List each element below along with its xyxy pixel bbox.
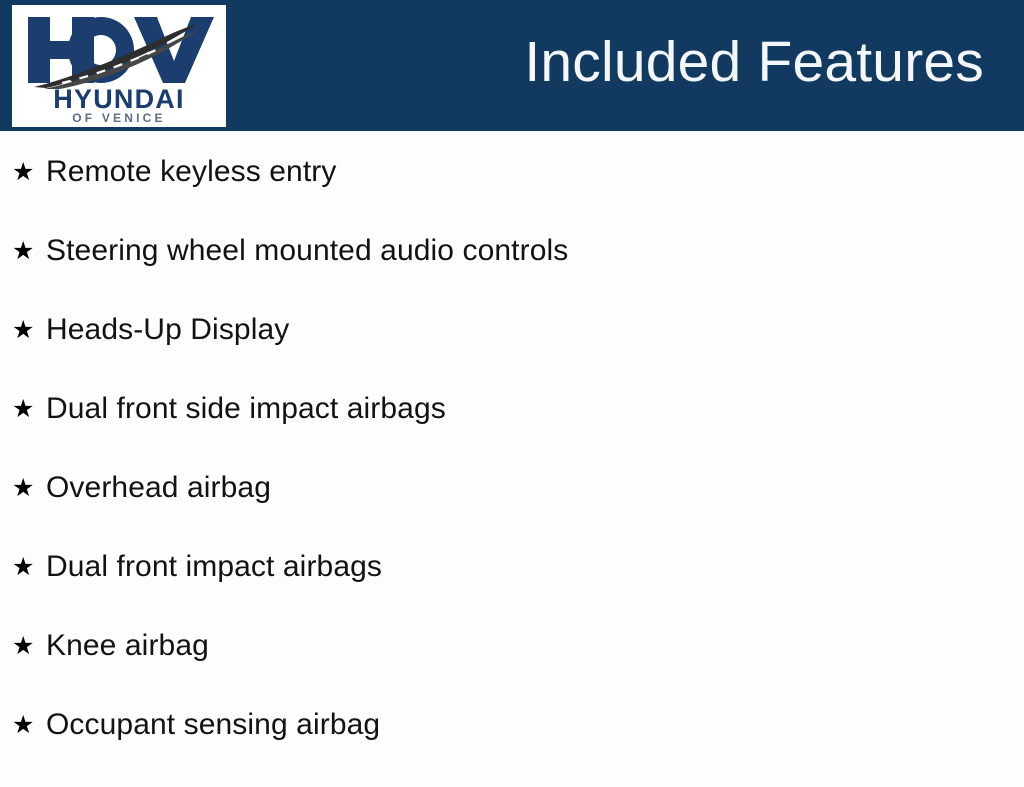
hov-wordmark-icon bbox=[22, 11, 218, 89]
list-item: ★ Occupant sensing airbag bbox=[0, 708, 1024, 787]
star-bullet-icon: ★ bbox=[12, 155, 46, 189]
star-bullet-icon: ★ bbox=[12, 471, 46, 505]
slide: HYUNDAI OF VENICE Included Features ★ Re… bbox=[0, 0, 1024, 768]
logo-brand-text: HYUNDAI bbox=[12, 85, 226, 113]
list-item: ★ Heads-Up Display bbox=[0, 313, 1024, 392]
list-item-label: Knee airbag bbox=[46, 629, 1024, 663]
star-bullet-icon: ★ bbox=[12, 392, 46, 426]
star-bullet-icon: ★ bbox=[12, 629, 46, 663]
logo-inner: HYUNDAI OF VENICE bbox=[12, 5, 226, 127]
logo-location-text: OF VENICE bbox=[12, 111, 226, 125]
list-item-label: Overhead airbag bbox=[46, 471, 1024, 505]
list-item: ★ Overhead airbag bbox=[0, 471, 1024, 550]
list-item: ★ Knee airbag bbox=[0, 629, 1024, 708]
list-item-label: Steering wheel mounted audio controls bbox=[46, 234, 1024, 268]
list-item: ★ Dual front side impact airbags bbox=[0, 392, 1024, 471]
star-bullet-icon: ★ bbox=[12, 234, 46, 268]
list-item-label: Dual front impact airbags bbox=[46, 550, 1024, 584]
list-item: ★ Dual front impact airbags bbox=[0, 550, 1024, 629]
list-item-label: Occupant sensing airbag bbox=[46, 708, 1024, 742]
list-item-label: Heads-Up Display bbox=[46, 313, 1024, 347]
star-bullet-icon: ★ bbox=[12, 550, 46, 584]
list-item: ★ Steering wheel mounted audio controls bbox=[0, 234, 1024, 313]
list-item: ★ Remote keyless entry bbox=[0, 155, 1024, 234]
star-bullet-icon: ★ bbox=[12, 313, 46, 347]
star-bullet-icon: ★ bbox=[12, 708, 46, 742]
page-title: Included Features bbox=[524, 27, 984, 97]
list-item-label: Remote keyless entry bbox=[46, 155, 1024, 189]
list-item-label: Dual front side impact airbags bbox=[46, 392, 1024, 426]
logo: HYUNDAI OF VENICE bbox=[12, 5, 226, 127]
header-band: HYUNDAI OF VENICE Included Features bbox=[0, 0, 1024, 131]
feature-list: ★ Remote keyless entry ★ Steering wheel … bbox=[0, 131, 1024, 787]
